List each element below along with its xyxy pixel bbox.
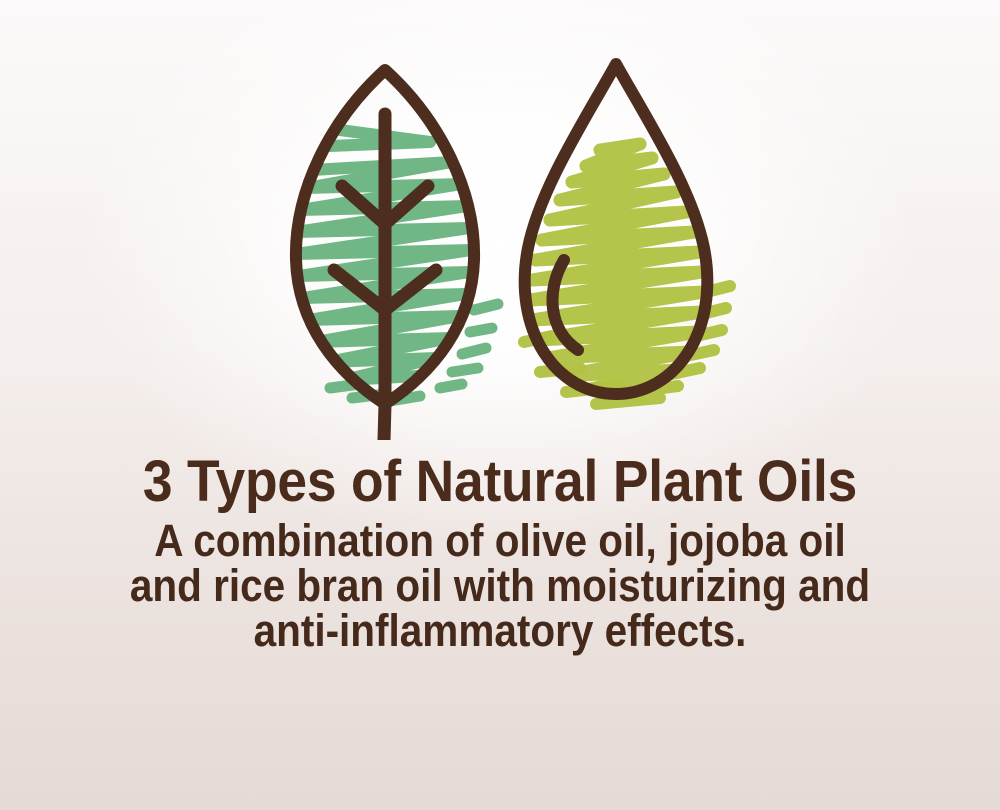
subtitle: A combination of olive oil, jojoba oil a… (50, 518, 950, 653)
text-block: 3 Types of Natural Plant Oils A combinat… (0, 452, 1000, 653)
oil-droplet-icon (524, 64, 730, 404)
poster-canvas: 3 Types of Natural Plant Oils A combinat… (0, 0, 1000, 810)
subtitle-line-1: A combination of olive oil, jojoba oil (50, 518, 950, 563)
subtitle-line-2: and rice bran oil with moisturizing and (50, 563, 950, 608)
leaf-icon (296, 70, 498, 440)
page-title: 3 Types of Natural Plant Oils (40, 452, 960, 512)
artwork-illustration (0, 0, 1000, 440)
subtitle-line-3: anti-inflammatory effects. (50, 608, 950, 653)
